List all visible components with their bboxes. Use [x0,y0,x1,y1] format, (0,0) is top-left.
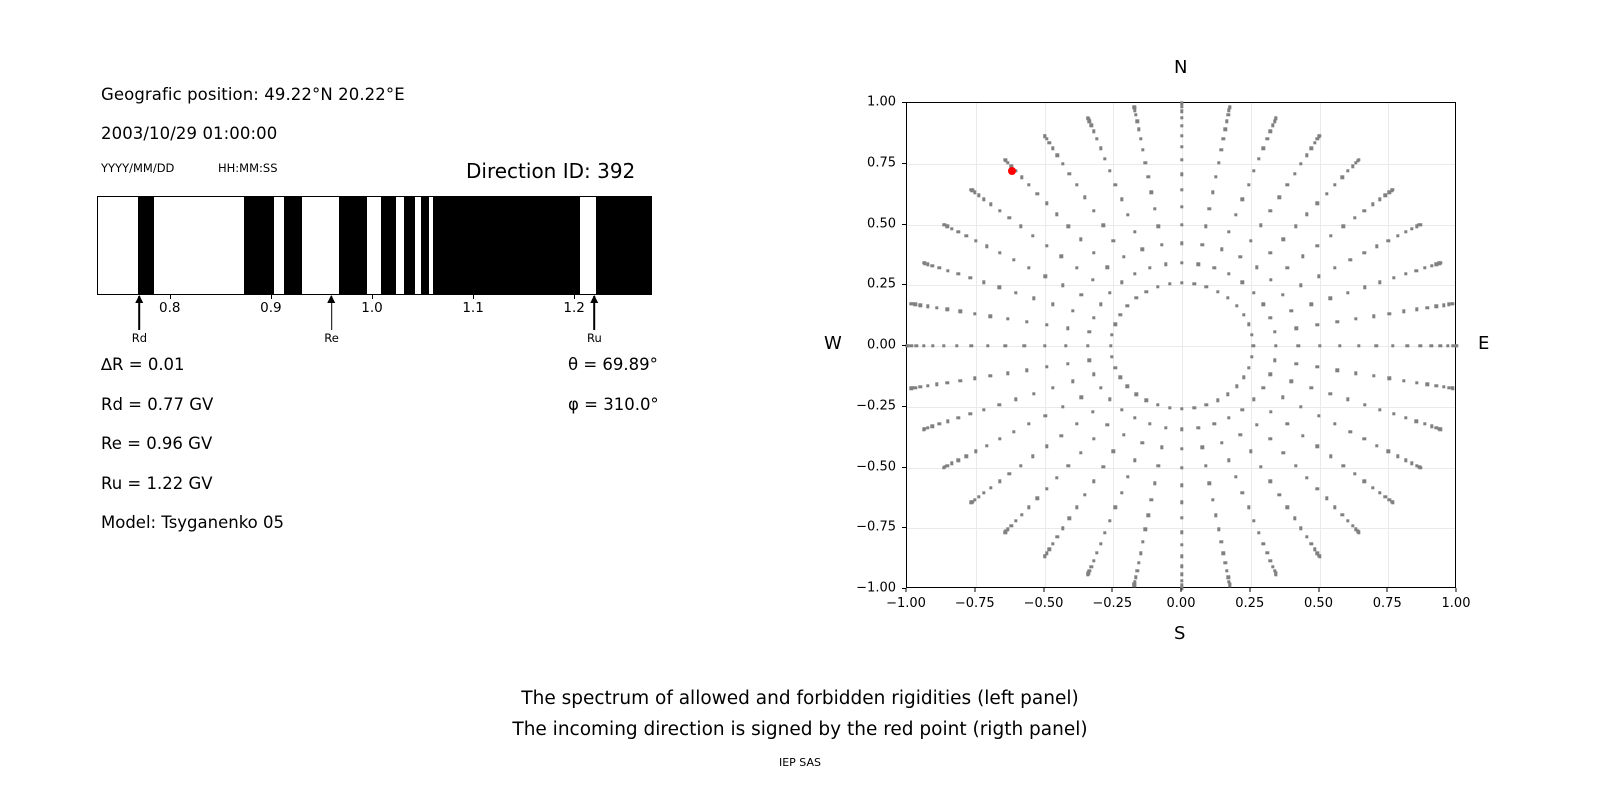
direction-sample-dot [1217,161,1220,164]
direction-sample-dot [1135,119,1138,122]
compass-label-north: N [1174,57,1187,78]
direction-sample-dot [1099,542,1102,545]
direction-sample-dot [1333,422,1336,425]
direction-sample-dot [946,381,949,384]
direction-sample-dot [1180,555,1183,558]
direction-sample-dot [1293,517,1296,520]
direction-sample-dot [1410,462,1413,465]
direction-sample-dot [1266,137,1269,140]
direction-sample-dot [1346,291,1349,294]
plot-ytick-label: −0.25 [844,398,896,413]
left-panel: Geografic position: 49.22°N 20.22°E 2003… [0,0,760,680]
direction-sample-dot [919,385,922,388]
direction-sample-dot [1430,344,1433,347]
direction-sample-dot [1114,183,1117,186]
direction-sample-dot [1051,147,1054,150]
direction-sample-dot [1180,242,1183,245]
direction-sample-dot [1137,127,1140,130]
plot-ytick [902,527,906,528]
direction-sample-dot [1061,162,1064,165]
direction-sample-dot [1316,365,1319,368]
direction-sample-dot [942,223,945,226]
direction-sample-dot [950,462,953,465]
direction-sample-dot [1387,450,1390,453]
direction-sample-dot [1363,437,1366,440]
direction-sample-dot [1375,444,1378,447]
direction-sample-dot [1071,379,1074,382]
direction-sample-dot [1423,422,1426,425]
direction-sample-dot [1316,323,1319,326]
direction-sample-dot [1235,385,1238,388]
direction-sample-dot [1333,506,1336,509]
direction-sample-dot [989,314,992,317]
rigidity-spectrum-bar [97,196,652,295]
direction-sample-dot [1180,407,1183,410]
caption-line-1: The spectrum of allowed and forbidden ri… [0,688,1600,709]
direction-sample-dot [1014,398,1017,401]
direction-sample-dot [970,344,973,347]
direction-sample-dot [1281,293,1284,296]
direction-sample-dot [1025,368,1028,371]
direction-sample-dot [1109,344,1112,347]
plot-xtick [1181,588,1182,592]
parameter-left-2: Re = 0.96 GV [101,434,212,453]
direction-sample-dot [1299,527,1302,530]
direction-sample-dot [1342,464,1345,467]
direction-sample-dot [998,437,1001,440]
direction-sample-dot [1120,198,1123,201]
direction-sample-dot [1250,333,1253,336]
plot-xtick-label: 0.00 [1167,596,1196,611]
direction-sample-dot [1043,134,1046,137]
forbidden-band [596,197,652,294]
direction-sample-dot [1220,441,1223,444]
spectrum-tick-label: 1.0 [361,300,382,316]
direction-sample-dot [1027,422,1030,425]
direction-sample-dot [1180,158,1183,161]
direction-sample-dot [1228,105,1231,108]
plot-xtick [974,588,975,592]
plot-ytick-label: 0.00 [844,338,896,353]
direction-sample-dot [1290,379,1293,382]
direction-sample-dot [1180,134,1183,137]
direction-sample-dot [1392,276,1395,279]
direction-sample-dot [1086,344,1089,347]
direction-sample-dot [1120,408,1123,411]
direction-sample-dot [1378,408,1381,411]
direction-sample-dot [1252,169,1255,172]
direction-sample-dot [1006,317,1009,320]
spectrum-tick-label: 0.9 [260,300,281,316]
direction-sample-dot [1336,320,1339,323]
direction-id-label: Direction ID: 392 [466,159,635,183]
direction-sample-dot [1387,239,1390,242]
direction-sample-dot [1133,105,1136,108]
caption-line-2: The incoming direction is signed by the … [0,719,1600,740]
direction-sample-dot [1091,278,1094,281]
direction-sample-dot [1160,243,1163,246]
footer-attribution: IEP SAS [0,756,1600,769]
direction-sample-dot [1139,552,1142,555]
direction-sample-dot [1415,308,1418,311]
plot-ytick [902,102,906,103]
direction-sample-dot [1242,313,1245,316]
plot-xtick-label: −0.25 [1092,596,1132,611]
direction-sample-dot [1051,542,1054,545]
direction-sample-dot [973,312,976,315]
direction-sample-dot [1257,157,1260,160]
direction-sample-dot [1061,284,1064,287]
direction-sample-dot [1089,565,1092,568]
direction-sample-dot [957,458,960,461]
direction-sample-dot [1180,145,1183,148]
direction-sample-dot [1227,416,1230,419]
direction-sample-dot [1392,412,1395,415]
plot-ytick [902,224,906,225]
direction-sample-dot [998,251,1001,254]
direction-sample-dot [1247,323,1250,326]
direction-sample-dot [1439,427,1442,430]
direction-sample-dot [942,344,945,347]
direction-sample-dot [1180,116,1183,119]
plot-xtick [1112,588,1113,592]
spectrum-tick-label: 0.8 [159,300,180,316]
direction-sample-dot [1286,183,1289,186]
direction-sample-dot [1290,309,1293,312]
direction-sample-dot [1241,491,1244,494]
direction-sample-dot [969,276,972,279]
direction-sample-dot [1446,344,1449,347]
direction-sample-dot [1045,244,1048,247]
time-format-hint: HH:MM:SS [218,161,278,175]
direction-sample-dot [1144,528,1147,531]
direction-sample-dot [1108,398,1111,401]
direction-sample-dot [1353,216,1356,219]
direction-sample-dot [1141,540,1144,543]
direction-sample-dot [1061,405,1064,408]
direction-sample-dot [1286,266,1289,269]
direction-sample-dot [1014,519,1017,522]
direction-sample-dot [1193,406,1196,409]
direction-sample-dot [1299,405,1302,408]
direction-sample-dot [1067,225,1070,228]
spectrum-tick-label: 1.1 [462,300,483,316]
direction-sample-dot [1075,266,1078,269]
direction-sample-dot [1160,445,1163,448]
forbidden-band [404,197,415,294]
direction-sample-dot [1241,198,1244,201]
direction-sample-dot [931,425,934,428]
direction-sample-dot [1341,176,1344,179]
direction-sample-dot [989,486,992,489]
direction-sample-dot [1439,344,1442,347]
direction-sample-dot [1269,316,1272,319]
direction-sample-dot [1219,540,1222,543]
direction-sample-dot [1055,476,1058,479]
direction-sample-dot [1051,303,1054,306]
plot-xtick [1387,588,1388,592]
direction-sample-dot [1099,147,1102,150]
plot-ytick [902,163,906,164]
direction-sample-dot [1208,482,1211,485]
direction-sample-dot [1415,381,1418,384]
direction-sample-dot [1075,506,1078,509]
direction-sample-dot [1310,147,1313,150]
direction-sample-dot [1316,202,1319,205]
parameter-right-0: θ = 69.89° [568,355,658,374]
direction-sample-dot [1197,262,1200,265]
direction-sample-dot [1354,371,1357,374]
direction-sample-dot [1217,528,1220,531]
direction-sample-dot [1168,282,1171,285]
direction-sample-dot [1238,433,1241,436]
direction-sample-dot [1316,487,1319,490]
direction-sample-dot [1418,344,1421,347]
direction-sample-dot [1006,371,1009,374]
direction-sample-dot [1092,130,1095,133]
direction-sample-dot [1305,476,1308,479]
direction-sample-dot [998,403,1001,406]
direction-sample-dot [1378,281,1381,284]
direction-sample-dot [1110,355,1113,358]
direction-sample-dot [1051,386,1054,389]
direction-sample-dot [1144,161,1147,164]
direction-sample-dot [1164,262,1167,265]
direction-sample-dot [1133,458,1136,461]
direction-sample-dot [957,230,960,233]
direction-sample-dot [1180,447,1183,450]
direction-sample-dot [1134,575,1137,578]
direction-sample-dot [1008,472,1011,475]
direction-sample-dot [982,198,985,201]
direction-sample-dot [922,261,925,264]
direction-sample-dot [1372,374,1375,377]
direction-sample-dot [1180,124,1183,127]
direction-sample-dot [1262,147,1265,150]
direction-sample-dot [1286,506,1289,509]
parameter-right-1: φ = 310.0° [568,395,659,414]
direction-sample-dot [1089,124,1092,127]
direction-sample-dot [1378,491,1381,494]
direction-sample-dot [1080,293,1083,296]
direction-sample-dot [1035,192,1038,195]
direction-sample-dot [1180,516,1183,519]
direction-sample-dot [1067,464,1070,467]
direction-sample-dot [1180,573,1183,576]
direction-sample-dot [1150,190,1153,193]
plot-ytick [902,588,906,589]
spectrum-marker-label-ru: Ru [587,331,602,345]
direction-sample-dot [1313,141,1316,144]
date-format-hint: YYYY/MM/DD [101,161,174,175]
direction-sample-dot [1145,290,1148,293]
direction-sample-dot [970,188,973,191]
direction-sample-dot [1211,190,1214,193]
direction-sample-dot [942,466,945,469]
direction-sample-dot [1310,542,1313,545]
plot-xtick [1043,588,1044,592]
spectrum-tick-label: 1.2 [563,300,584,316]
forbidden-band [339,197,367,294]
direction-sample-dot [1250,355,1253,358]
direction-sample-dot [1242,376,1245,379]
direction-sample-dot [1204,225,1207,228]
plot-ytick [902,345,906,346]
direction-sample-dot [1338,344,1341,347]
spectrum-marker-rd [139,296,141,330]
direction-sample-dot [1200,243,1203,246]
direction-sample-dot [909,386,912,389]
direction-sample-dot [1222,552,1225,555]
direction-sample-dot [1404,458,1407,461]
plot-xtick-label: −0.75 [955,596,995,611]
direction-sample-dot [1119,313,1122,316]
gridline-vertical [1113,103,1114,587]
direction-sample-dot [1004,530,1007,533]
direction-sample-dot [1226,575,1229,578]
direction-sample-dot [1341,513,1344,516]
direction-sample-dot [1415,269,1418,272]
direction-sample-dot [957,272,960,275]
direction-sample-dot [1227,230,1230,233]
direction-sample-dot [1122,255,1125,258]
direction-sample-dot [1430,425,1433,428]
direction-sample-dot [1126,213,1129,216]
direction-sample-dot [1032,297,1035,300]
direction-sample-dot [931,344,934,347]
direction-sample-dot [957,416,960,419]
direction-sample-dot [1141,248,1144,251]
plot-ytick-label: −1.00 [844,581,896,596]
direction-sample-dot [1133,230,1136,233]
direction-sample-dot [1297,344,1300,347]
direction-sample-dot [1079,238,1082,241]
direction-sample-dot [1336,368,1339,371]
direction-sample-dot [1310,386,1313,389]
gridline-horizontal [907,285,1455,286]
spectrum-tick [372,295,373,299]
direction-sample-dot [1068,517,1071,520]
direction-sample-dot [1318,344,1321,347]
direction-sample-dot [931,264,934,267]
direction-sample-dot [1106,423,1109,426]
direction-sample-dot [1141,148,1144,151]
direction-sample-dot [1451,302,1454,305]
direction-sample-dot [1092,316,1095,319]
direction-sample-dot [1047,141,1050,144]
direction-sample-dot [1066,326,1069,329]
direction-sample-dot [1262,542,1265,545]
gridline-horizontal [907,528,1455,529]
direction-sample-dot [1180,110,1183,113]
plot-xtick-label: 0.25 [1235,596,1264,611]
direction-sample-dot [1225,569,1228,572]
direction-sample-dot [1095,137,1098,140]
direction-sample-dot [1333,266,1336,269]
direction-sample-dot [1114,506,1117,509]
direction-sample-dot [1059,255,1062,258]
direction-sample-dot [1180,500,1183,503]
direction-sample-dot [937,266,940,269]
direction-sample-dot [1180,261,1183,264]
direction-sample-dot [1220,248,1223,251]
direction-sample-dot [909,302,912,305]
direction-sample-dot [1025,320,1028,323]
direction-sample-dot [1439,261,1442,264]
direction-sample-dot [1099,386,1102,389]
direction-sample-dot [1023,344,1026,347]
direction-sample-dot [1349,430,1352,433]
direction-sample-dot [1249,450,1252,453]
direction-sample-dot [1045,323,1048,326]
direction-sample-dot [1061,527,1064,530]
direction-sample-dot [1180,565,1183,568]
direction-sample-dot [1120,491,1123,494]
direction-sample-dot [1281,396,1284,399]
direction-sample-dot [1234,475,1237,478]
direction-sample-dot [1391,188,1394,191]
direction-sample-dot [1346,519,1349,522]
direction-sample-dot [982,281,985,284]
parameter-left-4: Model: Tsyganenko 05 [101,513,284,532]
direction-sample-dot [1156,403,1159,406]
direction-sample-dot [1044,414,1047,417]
direction-sample-dot [1241,281,1244,284]
direction-sample-dot [998,209,1001,212]
direction-sample-dot [1329,297,1332,300]
direction-sample-dot [935,383,938,386]
direction-sample-dot [1415,420,1418,423]
direction-sample-dot [1108,291,1111,294]
direction-sample-dot [1269,480,1272,483]
direction-sample-dot [922,427,925,430]
direction-sample-dot [1092,251,1095,254]
direction-sample-dot [1234,213,1237,216]
direction-sample-dot [1375,344,1378,347]
direction-sample-dot [914,386,917,389]
plot-ytick [902,406,906,407]
direction-sample-dot [1384,495,1387,498]
direction-sample-dot [982,408,985,411]
spectrum-tick [170,295,171,299]
spectrum-tick [473,295,474,299]
direction-sample-dot [1301,434,1304,437]
direction-sample-dot [926,305,929,308]
direction-sample-dot [1091,410,1094,413]
direction-sample-dot [1346,169,1349,172]
direction-sample-dot [1273,330,1276,333]
direction-sample-dot [1135,296,1138,299]
direction-sample-dot [1180,281,1183,284]
direction-sample-dot [1329,392,1332,395]
incoming-direction-point [1008,167,1016,175]
direction-sample-dot [1354,317,1357,320]
direction-sample-dot [1455,344,1458,347]
direction-sample-dot [1410,227,1413,230]
forbidden-band [284,197,302,294]
direction-sample-dot [1299,284,1302,287]
direction-sample-dot [1404,230,1407,233]
direction-sample-dot [1255,266,1258,269]
direction-sample-dot [1282,451,1285,454]
direction-sample-dot [1351,164,1354,167]
direction-sample-dot [1200,445,1203,448]
direction-sample-dot [1108,519,1111,522]
plot-ytick-label: 0.25 [844,277,896,292]
direction-sample-dot [1363,403,1366,406]
direction-sample-dot [1211,498,1214,501]
direction-sample-dot [1372,314,1375,317]
